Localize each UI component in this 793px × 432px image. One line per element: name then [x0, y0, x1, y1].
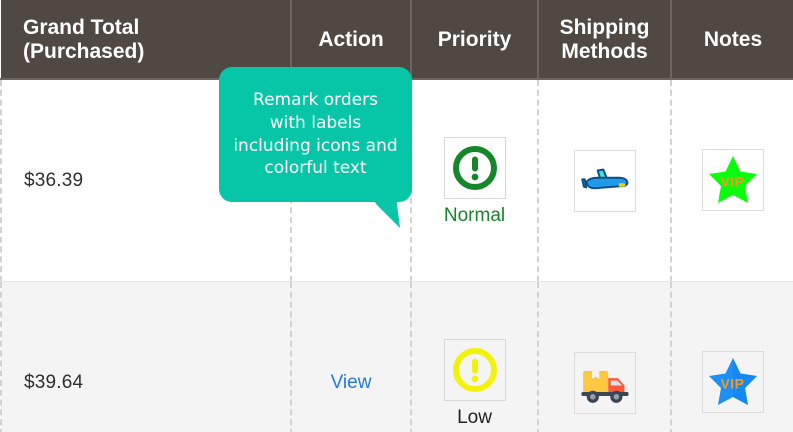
shipping-header-line1: Shipping: [549, 16, 660, 40]
vip-star: VIP: [706, 153, 760, 207]
order-grid-screenshot: Grand Total (Purchased) Action Priority …: [0, 0, 793, 432]
exclamation-circle-icon: [444, 137, 506, 199]
cell-shipping-method: [538, 282, 671, 432]
cell-priority: Normal: [411, 80, 538, 282]
callout-tooltip: Remark orders with labels including icon…: [219, 67, 412, 202]
cell-grand-total: $39.64: [1, 282, 291, 432]
grand-total-value: $39.64: [24, 372, 83, 393]
column-header-priority[interactable]: Priority: [411, 0, 538, 80]
row-separator: [0, 281, 793, 282]
cell-shipping-method: [538, 80, 671, 282]
grand-total-header-line2: (Purchased): [23, 40, 280, 64]
priority-badge: Low: [444, 339, 506, 427]
tooltip-text: Remark orders with labels including icon…: [233, 89, 398, 179]
grand-total-value: $36.39: [24, 170, 83, 191]
cell-notes: VIP: [671, 282, 793, 432]
airplane-icon: [574, 150, 636, 212]
priority-label: Low: [457, 408, 492, 427]
shipping-header-line2: Methods: [549, 40, 660, 64]
cell-notes: VIP: [671, 80, 793, 282]
star-badge-icon: VIP: [702, 351, 764, 413]
cell-priority: Low: [411, 282, 538, 432]
column-header-notes[interactable]: Notes: [671, 0, 793, 80]
grand-total-header-line1: Grand Total: [23, 16, 280, 40]
delivery-truck-icon: [574, 352, 636, 414]
priority-label: Normal: [444, 206, 505, 225]
table-row[interactable]: $39.64 View Low: [1, 282, 793, 432]
column-header-shipping-methods[interactable]: Shipping Methods: [538, 0, 671, 80]
view-link[interactable]: View: [331, 372, 372, 393]
exclamation-circle-icon: [444, 339, 506, 401]
cell-action: View: [291, 282, 411, 432]
priority-badge: Normal: [444, 137, 506, 225]
vip-star: VIP: [706, 355, 760, 409]
star-badge-icon: VIP: [702, 149, 764, 211]
